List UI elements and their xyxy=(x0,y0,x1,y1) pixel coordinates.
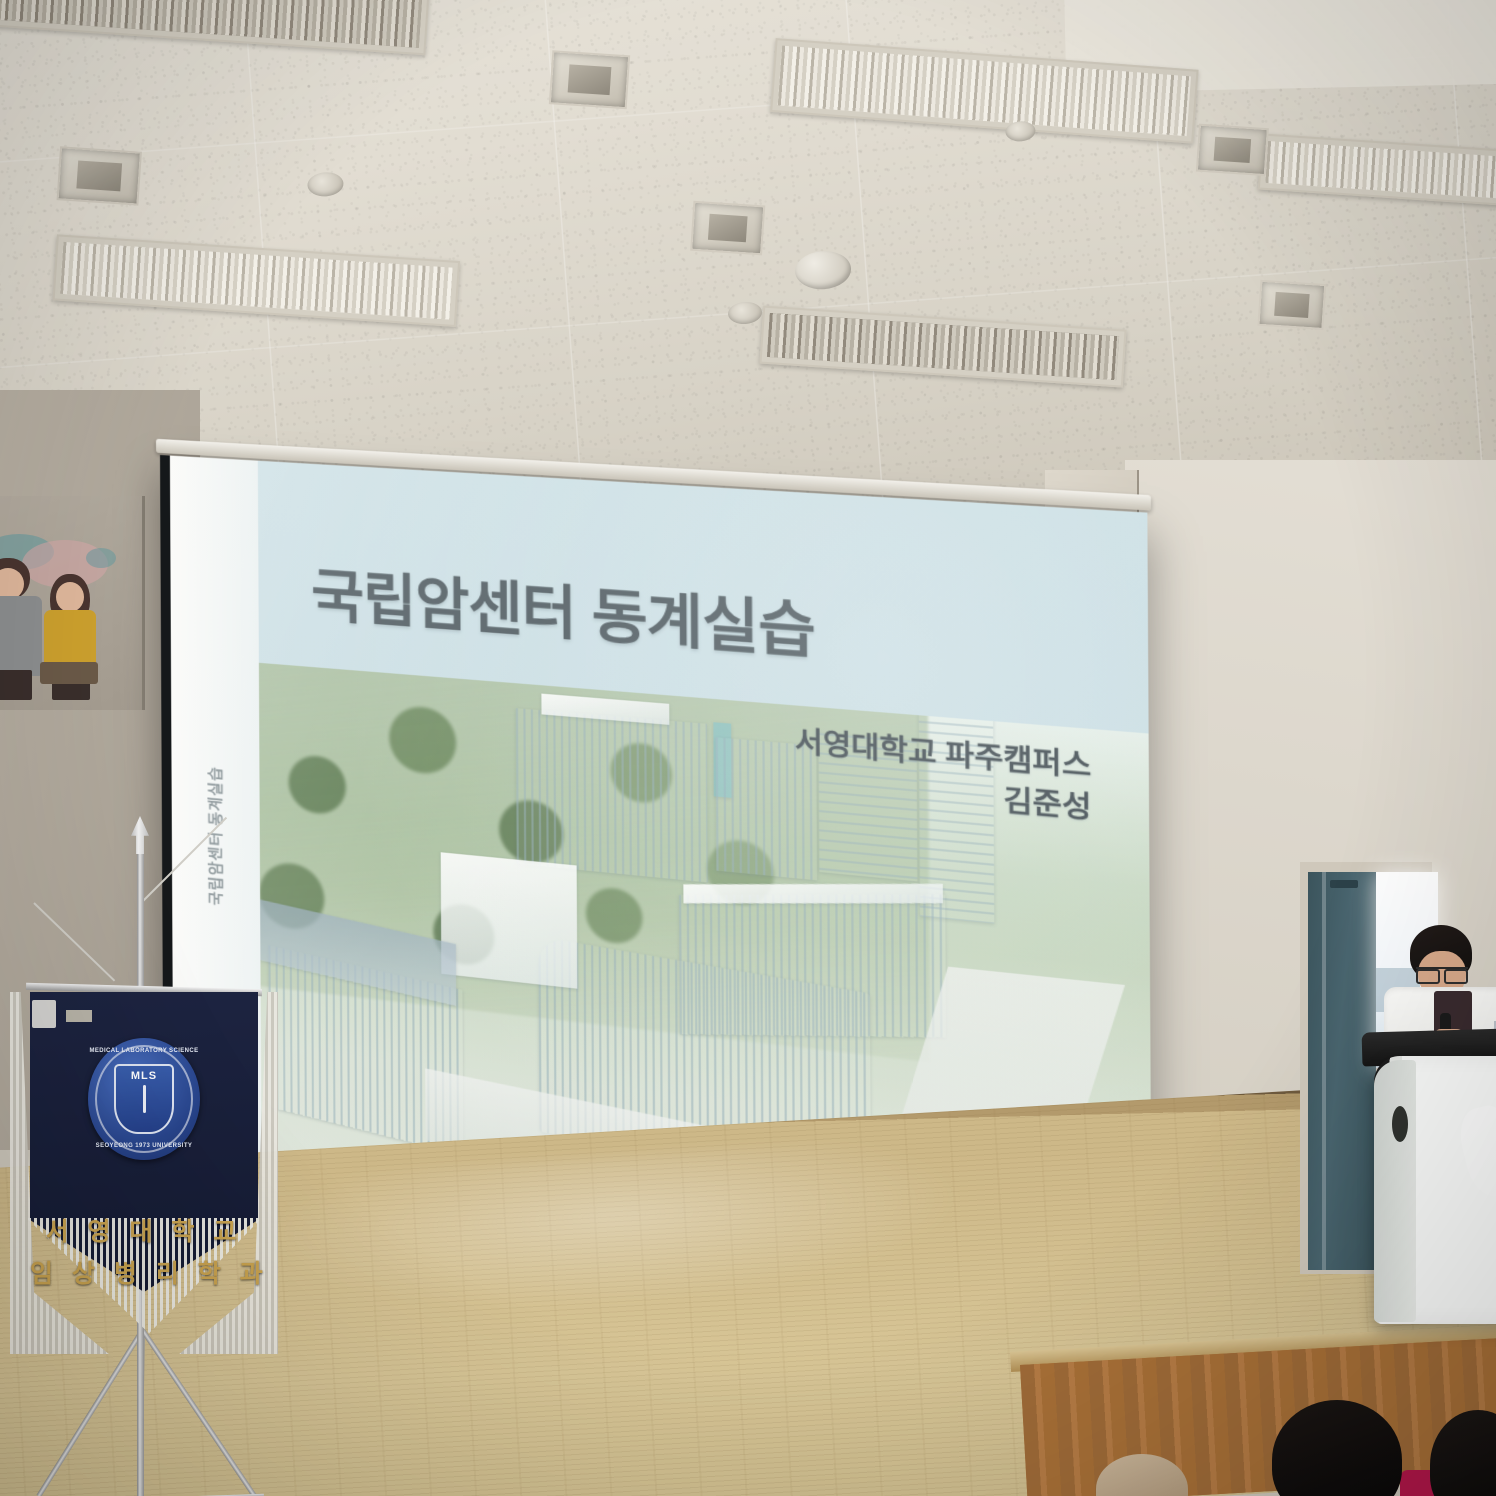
pennant-text-block: 서 영 대 학 교 임 상 병 리 학 과 xyxy=(30,0,258,1496)
room-door[interactable] xyxy=(1308,872,1376,1270)
glasses-icon xyxy=(1416,967,1468,980)
pennant-line-department: 임 상 병 리 학 과 xyxy=(30,1254,258,1290)
auditorium-photo: 국립암센터 동계실습 xyxy=(0,0,1496,1496)
slide-title: 국립암센터 동계실습 xyxy=(311,549,815,669)
podium xyxy=(1368,1030,1496,1330)
recessed-downlight-2 xyxy=(549,50,630,109)
recessed-downlight-4 xyxy=(1196,124,1269,177)
recessed-downlight-5 xyxy=(1257,280,1326,330)
podium-handle-slot xyxy=(1392,1106,1408,1142)
mid-rise-roof xyxy=(683,884,943,904)
door-edge xyxy=(1322,872,1326,1270)
podium-side-panel xyxy=(1374,1060,1416,1322)
recessed-downlight-3 xyxy=(690,201,765,256)
low-block-building xyxy=(441,852,578,988)
hospital-tower xyxy=(516,708,708,882)
mural-figure-legs xyxy=(0,670,32,700)
door-handle[interactable] xyxy=(1330,880,1358,888)
pennant-line-university: 서 영 대 학 교 xyxy=(30,1212,258,1248)
